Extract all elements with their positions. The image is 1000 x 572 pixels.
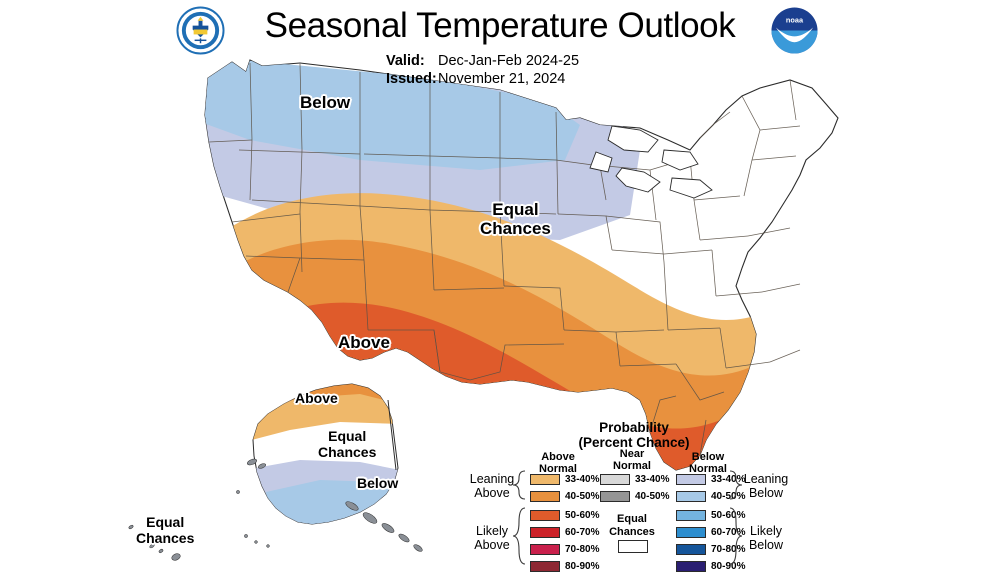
page-title: Seasonal Temperature Outlook <box>250 4 750 48</box>
legend-swatch-above-40-50 <box>530 491 560 502</box>
noaa-logo-icon: noaa <box>770 6 819 55</box>
map-label-alaska-equal: Equal Chances <box>318 428 376 460</box>
legend-col-near-line2: Normal <box>600 460 664 472</box>
legend-swatch-below-60-70 <box>676 527 706 538</box>
legend-swatch-above-40-50-label: 40-50% <box>565 491 599 502</box>
valid-issued-block: Valid:Dec-Jan-Feb 2024-25 Issued:Novembe… <box>386 52 579 88</box>
legend-swatch-above-70-80-label: 70-80% <box>565 544 599 555</box>
legend-swatch-above-60-70 <box>530 527 560 538</box>
legend-col-head-above: Above Normal <box>526 451 590 475</box>
legend-col-head-below: Below Normal <box>676 451 740 475</box>
legend-side-leaning-below: Leaning Below <box>736 472 796 500</box>
legend-equal-chances-label: Equal Chances <box>596 513 668 539</box>
legend-swatch-above-50-60 <box>530 510 560 521</box>
legend-equal-chances-line2: Chances <box>596 526 668 539</box>
map-label-below-northwest: Below <box>300 93 350 112</box>
map-label-above: Above <box>338 333 390 352</box>
outlook-page: Below Equal Chances Above Above Equal Ch… <box>0 0 1000 563</box>
legend-swatch-below-50-60 <box>676 510 706 521</box>
map-label-equal-chances: Equal Chances <box>480 200 551 238</box>
map-label-alaska-below: Below <box>357 475 398 491</box>
legend-side-likely-below: Likely Below <box>736 524 796 552</box>
legend-equal-chances-line1: Equal <box>596 513 668 526</box>
legend-swatch-near-33-40-label: 33-40% <box>635 474 669 485</box>
legend-title: Probability (Percent Chance) <box>468 420 800 450</box>
legend-swatch-above-70-80 <box>530 544 560 555</box>
probability-legend: Probability (Percent Chance) Above Norma… <box>468 420 800 565</box>
valid-value: Dec-Jan-Feb 2024-25 <box>438 53 579 69</box>
issued-label: Issued: <box>386 70 438 88</box>
legend-col-near-line1: Near <box>600 448 664 460</box>
svg-text:noaa: noaa <box>786 16 804 25</box>
legend-side-leaning-above: Leaning Above <box>464 472 520 500</box>
legend-swatch-equal-chances <box>618 540 648 553</box>
legend-swatch-above-33-40 <box>530 474 560 485</box>
valid-label: Valid: <box>386 52 438 70</box>
legend-swatch-below-70-80 <box>676 544 706 555</box>
legend-col-below-line1: Below <box>676 451 740 463</box>
legend-swatch-below-33-40 <box>676 474 706 485</box>
legend-swatch-below-50-60-label: 50-60% <box>711 510 745 521</box>
legend-swatch-above-33-40-label: 33-40% <box>565 474 599 485</box>
legend-col-head-near: Near Normal <box>600 448 664 472</box>
legend-swatch-near-33-40 <box>600 474 630 485</box>
map-label-hawaii-equal: Equal Chances <box>136 514 194 546</box>
legend-swatch-near-40-50-label: 40-50% <box>635 491 669 502</box>
legend-title-line1: Probability <box>468 420 800 435</box>
issued-value: November 21, 2024 <box>438 71 565 87</box>
issued-row: Issued:November 21, 2024 <box>386 70 579 88</box>
nws-doc-seal-icon <box>176 6 225 55</box>
map-label-alaska-above: Above <box>295 390 338 406</box>
legend-swatch-above-50-60-label: 50-60% <box>565 510 599 521</box>
legend-swatch-above-60-70-label: 60-70% <box>565 527 599 538</box>
valid-row: Valid:Dec-Jan-Feb 2024-25 <box>386 52 579 70</box>
legend-swatch-below-40-50 <box>676 491 706 502</box>
legend-col-above-line1: Above <box>526 451 590 463</box>
legend-side-likely-above: Likely Above <box>464 524 520 552</box>
legend-swatch-near-40-50 <box>600 491 630 502</box>
